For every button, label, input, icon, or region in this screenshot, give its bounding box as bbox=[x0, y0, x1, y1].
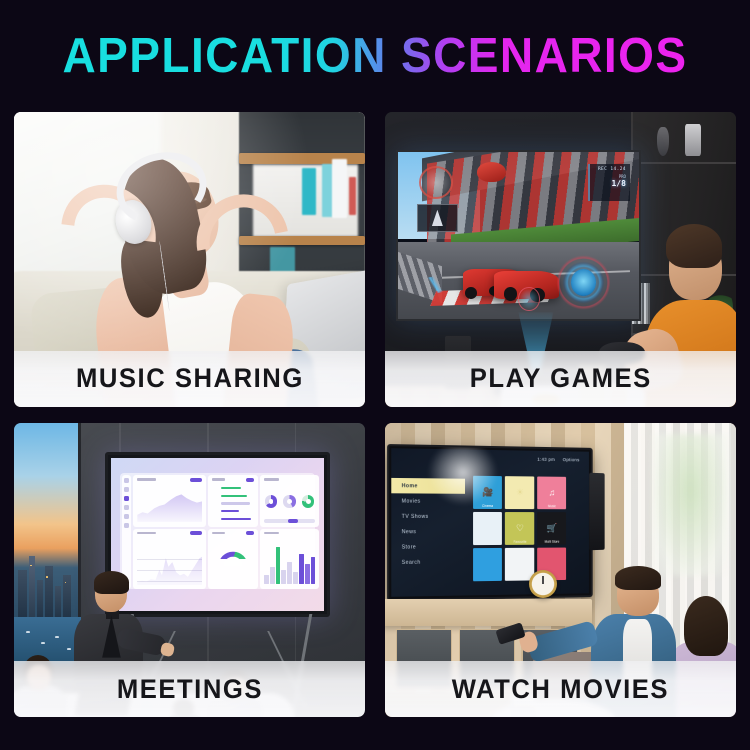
dashboard-card-mini-donuts bbox=[260, 475, 319, 527]
hud-gauge-small-icon bbox=[518, 287, 540, 310]
tv-menu-item-store[interactable]: Store bbox=[391, 539, 464, 555]
cart-icon: 🛒 bbox=[546, 524, 557, 533]
caption-label: WATCH MOVIES bbox=[452, 674, 669, 705]
smart-tv: 1:43 pm Options Home Movies TV Shows New… bbox=[387, 444, 593, 601]
tv-menu-item-news[interactable]: News bbox=[391, 524, 464, 539]
hud-team-logo-icon bbox=[477, 162, 506, 182]
tv-tile-eight[interactable] bbox=[505, 548, 534, 581]
caption-label: MUSIC SHARING bbox=[76, 363, 304, 394]
tv-tile-favourite[interactable]: ♡ Favourite bbox=[505, 512, 534, 545]
tv-tile-store[interactable]: 🛒 Multi Store bbox=[537, 512, 566, 544]
scenario-grid: MUSIC SHARING bbox=[14, 112, 736, 717]
dashboard-card-gauge bbox=[208, 529, 258, 590]
tile-label: Multi Store bbox=[537, 540, 566, 544]
tv-menu-item-search[interactable]: Search bbox=[391, 554, 464, 570]
hud-lap-counter: 1/8 bbox=[611, 179, 625, 188]
caption-label: MEETINGS bbox=[116, 674, 262, 705]
scenario-card-watch-movies[interactable]: 1:43 pm Options Home Movies TV Shows New… bbox=[385, 423, 736, 718]
music-note-icon: ♫ bbox=[548, 489, 555, 498]
tv-status-bar: 1:43 pm Options bbox=[537, 457, 579, 463]
dashboard-card-bars bbox=[260, 529, 319, 590]
hud-badge-icon bbox=[419, 166, 453, 199]
dashboard-card-rowbars bbox=[208, 475, 258, 527]
projection-screen: REC 14.24 PRO 1/8 bbox=[396, 150, 642, 321]
scenario-card-music-sharing[interactable]: MUSIC SHARING bbox=[14, 112, 365, 407]
sun-icon: ☀ bbox=[516, 488, 524, 497]
scenario-card-meetings[interactable]: MEETINGS bbox=[14, 423, 365, 718]
heart-icon: ♡ bbox=[516, 524, 524, 533]
alarm-clock-icon bbox=[529, 570, 557, 598]
wall-speaker bbox=[589, 472, 604, 549]
caption-watch-movies: WATCH MOVIES bbox=[385, 661, 736, 717]
tv-tile-four[interactable] bbox=[472, 512, 502, 545]
analytics-dashboard bbox=[120, 473, 316, 589]
hud-hp-label: REC 14.24 bbox=[598, 167, 626, 172]
page-title: APPLICATION SCENARIOS bbox=[23, 0, 728, 84]
caption-music-sharing: MUSIC SHARING bbox=[14, 351, 365, 407]
hud-speedometer-icon bbox=[557, 254, 610, 311]
tv-tile-two[interactable]: ☀ bbox=[505, 476, 534, 509]
dashboard-card-area-chart bbox=[133, 475, 206, 527]
hud-leaderboard bbox=[417, 204, 458, 232]
caption-label: PLAY GAMES bbox=[470, 363, 652, 394]
tv-status-time: 1:43 pm bbox=[537, 457, 555, 462]
tv-status-options: Options bbox=[562, 457, 579, 462]
tile-label: Favourite bbox=[505, 540, 534, 544]
tv-menu-item-tv-shows[interactable]: TV Shows bbox=[391, 509, 464, 524]
caption-play-games: PLAY GAMES bbox=[385, 351, 736, 407]
dashboard-sidebar bbox=[122, 475, 132, 589]
tv-tile-seven[interactable] bbox=[472, 548, 502, 581]
tile-label: Music bbox=[537, 504, 566, 508]
tv-tile-music[interactable]: ♫ Music bbox=[537, 477, 566, 510]
caption-meetings: MEETINGS bbox=[14, 661, 365, 717]
scenario-card-play-games[interactable]: REC 14.24 PRO 1/8 PLAY GAMES bbox=[385, 112, 736, 407]
